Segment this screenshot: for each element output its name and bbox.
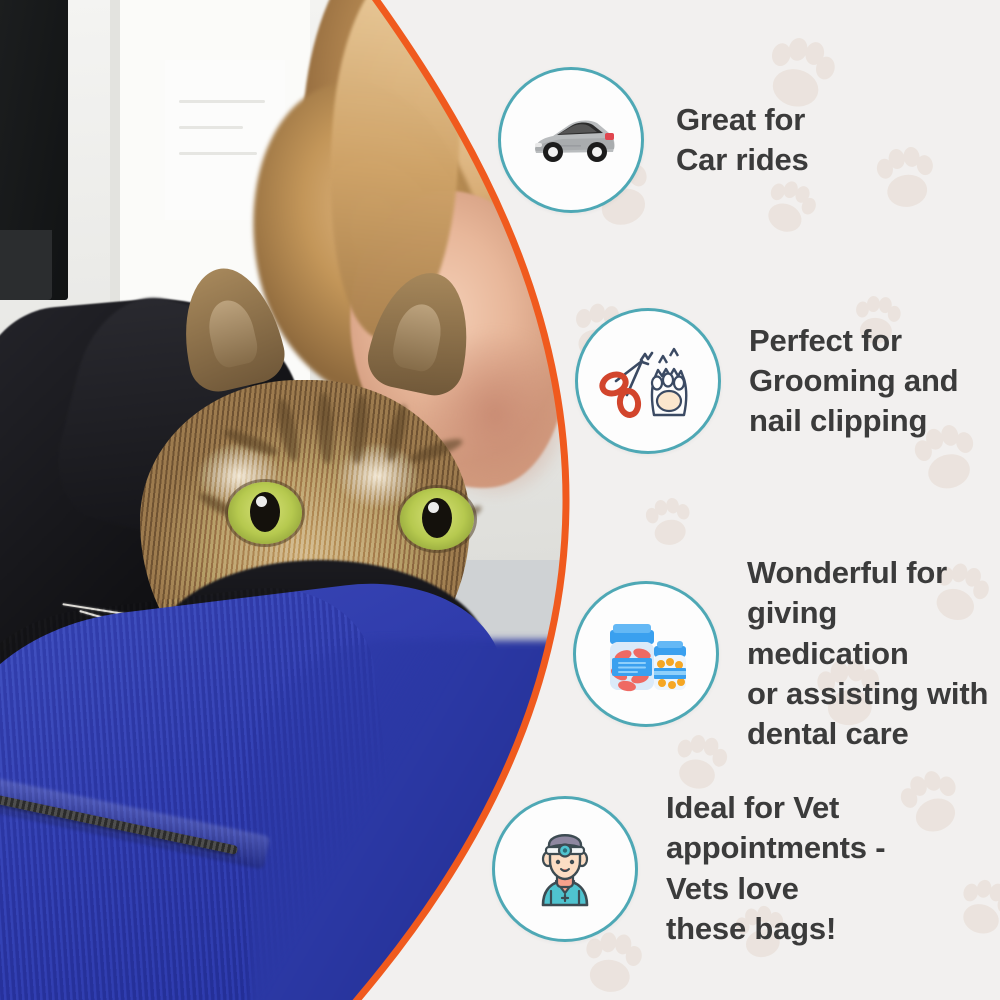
feature-icon-badge (498, 67, 644, 213)
feature-icon-badge (575, 308, 721, 454)
nail-clipper-paw-icon (596, 329, 700, 433)
feature-medication[interactable]: Wonderful for giving medication or assis… (573, 553, 1000, 754)
feature-label: Ideal for Vet appointments - Vets love t… (666, 788, 885, 949)
cat-eye-glint-left (256, 496, 267, 507)
feature-vet-appointments[interactable]: Ideal for Vet appointments - Vets love t… (492, 788, 885, 949)
feature-icon-badge (492, 796, 638, 942)
photo-monitor-base (0, 230, 52, 300)
feature-label: Great for Car rides (676, 100, 809, 181)
feature-icon-badge (573, 581, 719, 727)
pill-bottles-icon (594, 602, 698, 706)
feature-car-rides[interactable]: Great for Car rides (498, 67, 809, 213)
infographic-stage: Great for Car rides (0, 0, 1000, 1000)
feature-label: Wonderful for giving medication or assis… (747, 553, 1000, 754)
feature-grooming[interactable]: Perfect for Grooming and nail clipping (575, 308, 958, 454)
veterinarian-icon (513, 817, 617, 921)
feature-label: Perfect for Grooming and nail clipping (749, 321, 958, 442)
cat-eye-glint-right (428, 502, 439, 513)
car-icon (519, 88, 623, 192)
